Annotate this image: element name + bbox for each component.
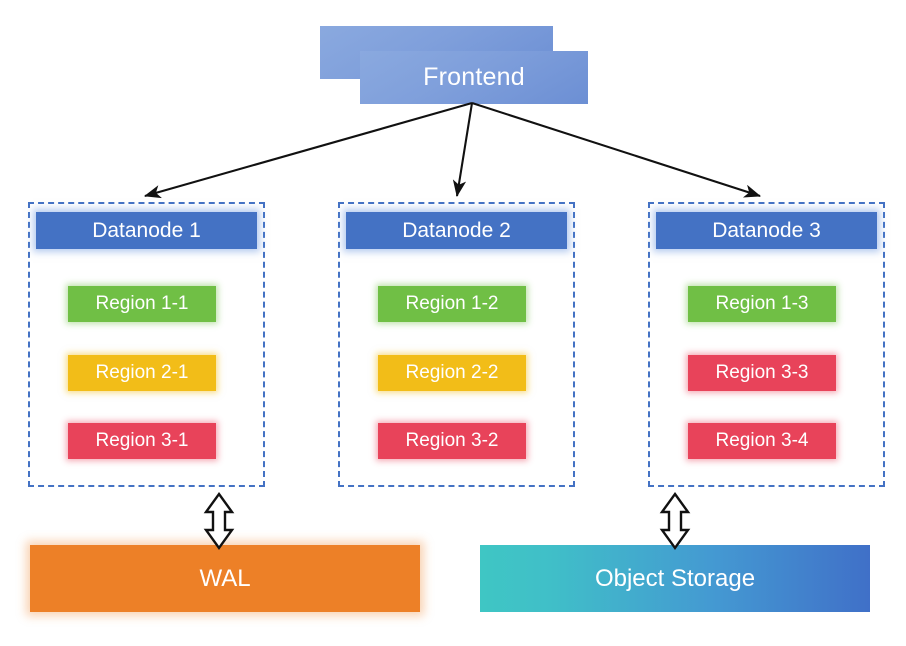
region-box-3-2[interactable]: Region 3-2 bbox=[378, 423, 526, 459]
diagram-canvas: Frontend Datanode 1 Region 1-1 Region 2-… bbox=[0, 0, 906, 646]
frontend-label: Frontend bbox=[423, 63, 525, 92]
arrow-frontend-to-datanode-2 bbox=[457, 103, 472, 196]
region-box-1-2[interactable]: Region 1-2 bbox=[378, 286, 526, 322]
datanode-3-header[interactable]: Datanode 3 bbox=[656, 212, 877, 249]
arrow-frontend-to-datanode-1 bbox=[145, 103, 472, 196]
region-label-1-2: Region 1-2 bbox=[406, 293, 499, 315]
region-label-3-3: Region 3-3 bbox=[716, 362, 809, 384]
datanode-2-label: Datanode 2 bbox=[402, 219, 511, 243]
region-label-1-3: Region 1-3 bbox=[716, 293, 809, 315]
region-box-3-3[interactable]: Region 3-3 bbox=[688, 355, 836, 391]
datanode-1-label: Datanode 1 bbox=[92, 219, 201, 243]
datanode-2-container[interactable]: Datanode 2 Region 1-2 Region 2-2 Region … bbox=[338, 202, 575, 487]
datanode-3-label: Datanode 3 bbox=[712, 219, 821, 243]
region-box-2-2[interactable]: Region 2-2 bbox=[378, 355, 526, 391]
region-box-3-1[interactable]: Region 3-1 bbox=[68, 423, 216, 459]
object-storage-node[interactable]: Object Storage bbox=[480, 545, 870, 612]
arrow-frontend-to-datanode-3 bbox=[472, 103, 760, 196]
region-box-3-4[interactable]: Region 3-4 bbox=[688, 423, 836, 459]
region-label-3-2: Region 3-2 bbox=[406, 430, 499, 452]
wal-label: WAL bbox=[199, 565, 250, 593]
region-label-1-1: Region 1-1 bbox=[96, 293, 189, 315]
double-arrow-datanode-3-to-object-storage bbox=[662, 494, 688, 548]
object-storage-label: Object Storage bbox=[595, 565, 755, 593]
datanode-1-header[interactable]: Datanode 1 bbox=[36, 212, 257, 249]
double-arrow-datanode-1-to-wal bbox=[206, 494, 232, 548]
datanode-1-container[interactable]: Datanode 1 Region 1-1 Region 2-1 Region … bbox=[28, 202, 265, 487]
region-box-2-1[interactable]: Region 2-1 bbox=[68, 355, 216, 391]
region-box-1-1[interactable]: Region 1-1 bbox=[68, 286, 216, 322]
region-label-2-1: Region 2-1 bbox=[96, 362, 189, 384]
region-label-3-1: Region 3-1 bbox=[96, 430, 189, 452]
datanode-2-header[interactable]: Datanode 2 bbox=[346, 212, 567, 249]
frontend-node[interactable]: Frontend bbox=[360, 51, 588, 104]
region-label-3-4: Region 3-4 bbox=[716, 430, 809, 452]
datanode-3-container[interactable]: Datanode 3 Region 1-3 Region 3-3 Region … bbox=[648, 202, 885, 487]
wal-node[interactable]: WAL bbox=[30, 545, 420, 612]
region-label-2-2: Region 2-2 bbox=[406, 362, 499, 384]
region-box-1-3[interactable]: Region 1-3 bbox=[688, 286, 836, 322]
